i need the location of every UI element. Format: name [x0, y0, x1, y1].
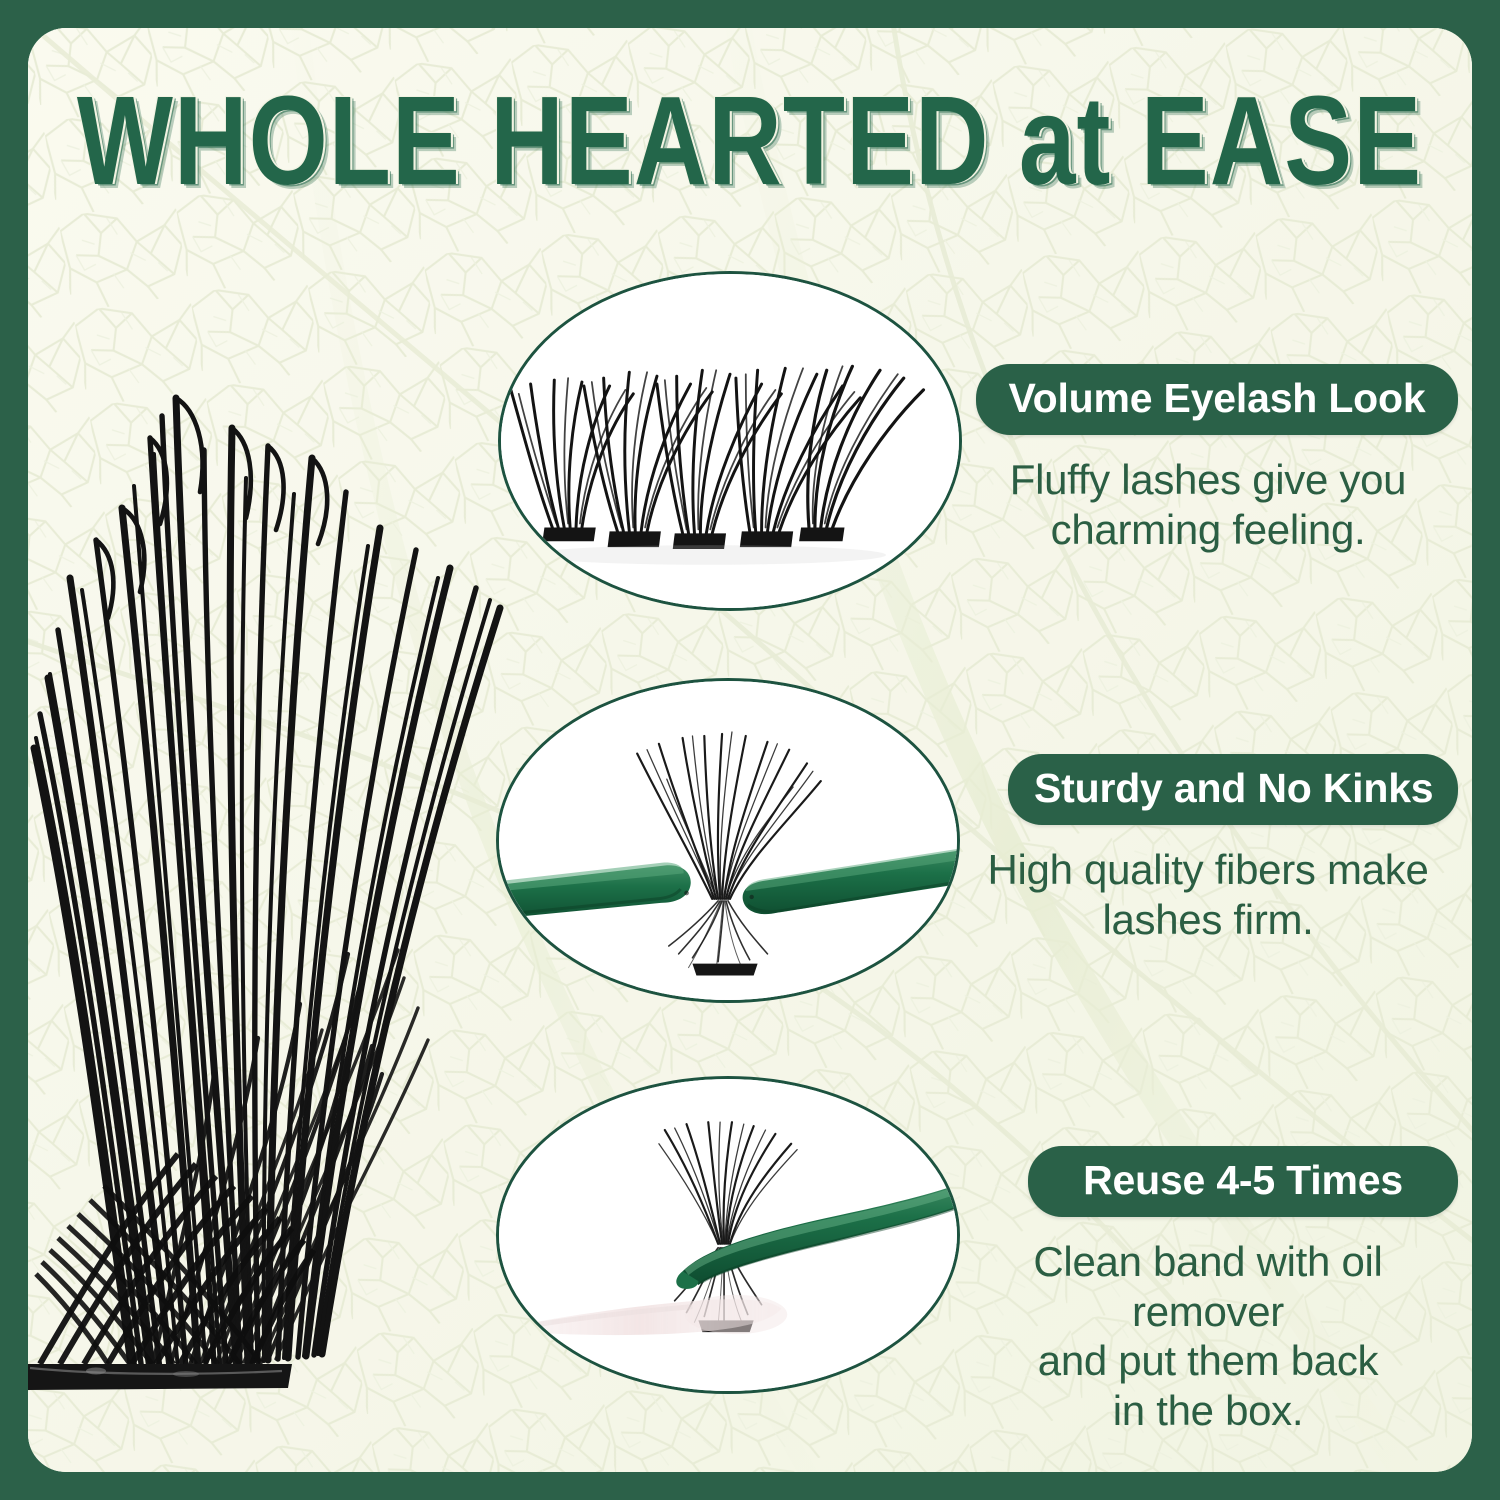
product-infographic-poster: WHOLE HEARTED at EASE [0, 0, 1500, 1500]
feature-volume-eyelash-look: Volume Eyelash Look Fluffy lashes give y… [958, 364, 1458, 554]
feature-title-badge-3: Reuse 4-5 Times [1028, 1146, 1458, 1217]
hero-lash-image [28, 278, 560, 1408]
feature-title-badge-1: Volume Eyelash Look [976, 364, 1458, 435]
photo-volume-eyelash-look [498, 271, 962, 611]
feature-description-2: High quality fibers make lashes firm. [958, 845, 1458, 944]
feature-description-1: Fluffy lashes give you charming feeling. [958, 455, 1458, 554]
photo-reuse-4-5-times [496, 1076, 960, 1394]
photo-sturdy-and-no-kinks [496, 678, 960, 1003]
feature-reuse-4-5-times: Reuse 4-5 Times Clean band with oil remo… [958, 1146, 1458, 1435]
feature-sturdy-and-no-kinks: Sturdy and No Kinks High quality fibers … [958, 754, 1458, 944]
feature-description-3: Clean band with oil remover and put them… [958, 1237, 1458, 1435]
feature-title-badge-2: Sturdy and No Kinks [1008, 754, 1458, 825]
content-panel: WHOLE HEARTED at EASE [28, 28, 1472, 1472]
